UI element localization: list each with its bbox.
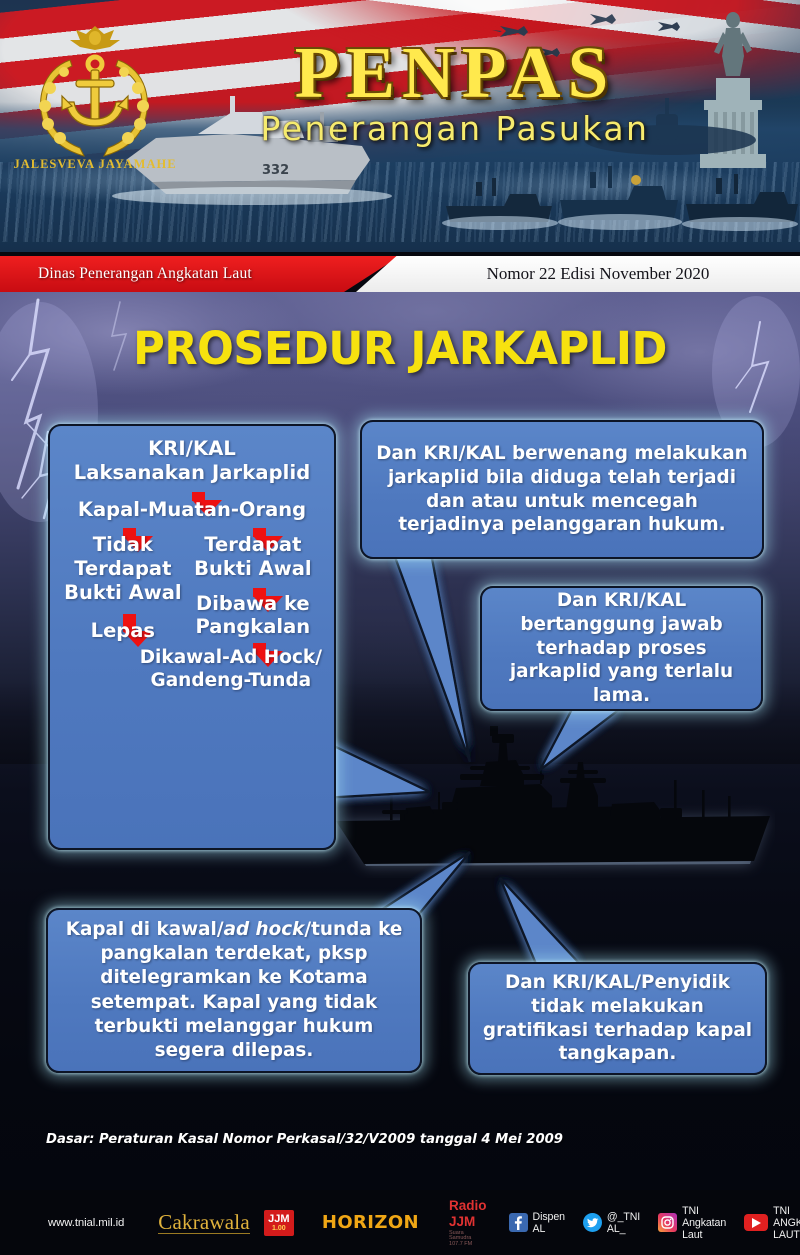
issue-label: Nomor 22 Edisi November 2020 bbox=[453, 264, 710, 284]
bubble-kewenangan: Dan KRI/KAL berwenang melakukan jarkapli… bbox=[360, 420, 764, 559]
page-title: PROSEDUR JARKAPLID bbox=[16, 322, 784, 375]
publisher-label: Dinas Penerangan Angkatan Laut bbox=[38, 265, 252, 283]
bubble-pengawalan-italic: ad hock bbox=[224, 919, 305, 940]
warship-silhouette-icon bbox=[330, 718, 775, 878]
flowchart-head-line2: Laksanakan Jarkaplid bbox=[62, 461, 322, 485]
youtube-icon bbox=[744, 1214, 768, 1231]
footer-cakrawala-label: Cakrawala bbox=[158, 1211, 250, 1234]
issue-banner: Nomor 22 Edisi November 2020 bbox=[356, 256, 800, 292]
wordmark-title: PENPAS bbox=[210, 38, 700, 107]
radio-sub-label: Suara Samudra 107.7 FM bbox=[449, 1231, 487, 1248]
left-step1-line1: Tidak bbox=[62, 533, 184, 557]
youtube-label: TNI ANGKATAN LAUT bbox=[773, 1205, 800, 1241]
footer-website[interactable]: www.tnial.mil.id bbox=[48, 1208, 124, 1238]
svg-text:332: 332 bbox=[262, 163, 289, 178]
bubble-pengawalan-part2: /tunda ke pangkalan terdekat, pksp ditel… bbox=[91, 919, 403, 1061]
right-step2-line2: Pangkalan bbox=[184, 615, 322, 639]
footer-bar: www.tnial.mil.id Cakrawala JJM 1.00 HORI… bbox=[0, 1190, 800, 1255]
flowchart-node-middle: Kapal-Muatan-Orang bbox=[62, 498, 322, 522]
left-step1-line3: Bukti Awal bbox=[62, 581, 184, 605]
bubble-pengawalan: Kapal di kawal/ad hock/tunda ke pangkala… bbox=[46, 908, 422, 1073]
footer-horizon-logo[interactable]: HORIZON bbox=[322, 1208, 419, 1238]
flowchart-head: KRI/KAL Laksanakan Jarkaplid bbox=[62, 437, 322, 485]
bubble-kewenangan-text: Dan KRI/KAL berwenang melakukan jarkapli… bbox=[376, 442, 748, 538]
bubble-pengawalan-text: Kapal di kawal/ad hock/tunda ke pangkala… bbox=[60, 918, 408, 1063]
penpas-infographic-poster: 332 bbox=[0, 0, 800, 1255]
flowchart-branch-right: Terdapat Bukti Awal Dibawa ke Pangkalan … bbox=[184, 528, 322, 692]
jjm-bottom-label: 1.00 bbox=[272, 1225, 286, 1232]
bubble-tanggung-jawab-text: Dan KRI/KAL bertanggung jawab terhadap p… bbox=[494, 589, 749, 709]
footer-radio-jjm-logo[interactable]: Radio JJM Suara Samudra 107.7 FM bbox=[449, 1208, 487, 1238]
emblem-motto: JALESVEVA JAYAMAHE bbox=[14, 157, 176, 171]
facebook-icon bbox=[509, 1213, 528, 1232]
masthead-banner: 332 bbox=[0, 0, 800, 252]
instagram-icon bbox=[658, 1213, 677, 1232]
footer-horizon-label: HORIZON bbox=[322, 1212, 419, 1233]
footer-jjm-logo[interactable]: JJM 1.00 bbox=[264, 1208, 294, 1238]
jarkaplid-procedure-flowchart: KRI/KAL Laksanakan Jarkaplid Kapal-Muata… bbox=[48, 424, 336, 850]
right-step1-line2: Bukti Awal bbox=[184, 557, 322, 581]
bubble-tanggung-jawab: Dan KRI/KAL bertanggung jawab terhadap p… bbox=[480, 586, 763, 711]
twitter-label: @_TNI AL_ bbox=[607, 1211, 640, 1235]
wordmark: PENPAS Penerangan Pasukan bbox=[210, 38, 700, 148]
bubble-gratifikasi-text: Dan KRI/KAL/Penyidik tidak melakukan gra… bbox=[482, 971, 753, 1067]
publisher-banner: Dinas Penerangan Angkatan Laut bbox=[0, 256, 400, 292]
flowchart-head-line1: KRI/KAL bbox=[62, 437, 322, 461]
footer-twitter[interactable]: @_TNI AL_ bbox=[583, 1208, 640, 1238]
footer-facebook[interactable]: Dispen AL bbox=[509, 1208, 565, 1238]
radio-name-label: Radio JJM bbox=[449, 1198, 487, 1229]
wordmark-subtitle: Penerangan Pasukan bbox=[210, 109, 700, 148]
facebook-label: Dispen AL bbox=[533, 1211, 565, 1235]
right-step2-line1: Dibawa ke bbox=[184, 592, 322, 616]
right-step3-line1: Dikawal-Ad Hock/ bbox=[140, 647, 322, 670]
legal-basis-note: Dasar: Peraturan Kasal Nomor Perkasal/32… bbox=[46, 1132, 746, 1147]
bubble-pengawalan-part1: Kapal di kawal/ bbox=[66, 919, 224, 940]
left-step2: Lepas bbox=[62, 619, 184, 643]
footer-instagram[interactable]: TNI Angkatan Laut bbox=[658, 1208, 726, 1238]
left-step1-line2: Terdapat bbox=[62, 557, 184, 581]
jjm-top-label: JJM bbox=[268, 1214, 289, 1225]
jjm-badge-icon: JJM 1.00 bbox=[264, 1210, 294, 1236]
instagram-label: TNI Angkatan Laut bbox=[682, 1205, 726, 1241]
right-step3-line2: Gandeng-Tunda bbox=[140, 670, 322, 693]
issue-ribbon: Dinas Penerangan Angkatan Laut Nomor 22 … bbox=[0, 252, 800, 296]
footer-youtube[interactable]: TNI ANGKATAN LAUT bbox=[744, 1208, 800, 1238]
footer-website-label: www.tnial.mil.id bbox=[48, 1217, 124, 1229]
footer-cakrawala-logo[interactable]: Cakrawala bbox=[158, 1208, 250, 1238]
bubble-gratifikasi: Dan KRI/KAL/Penyidik tidak melakukan gra… bbox=[468, 962, 767, 1075]
amphibious-boats-icon bbox=[440, 144, 800, 234]
right-step1-line1: Terdapat bbox=[184, 533, 322, 557]
tni-al-emblem-icon: JALESVEVA JAYAMAHE bbox=[14, 22, 176, 172]
twitter-icon bbox=[583, 1213, 602, 1232]
